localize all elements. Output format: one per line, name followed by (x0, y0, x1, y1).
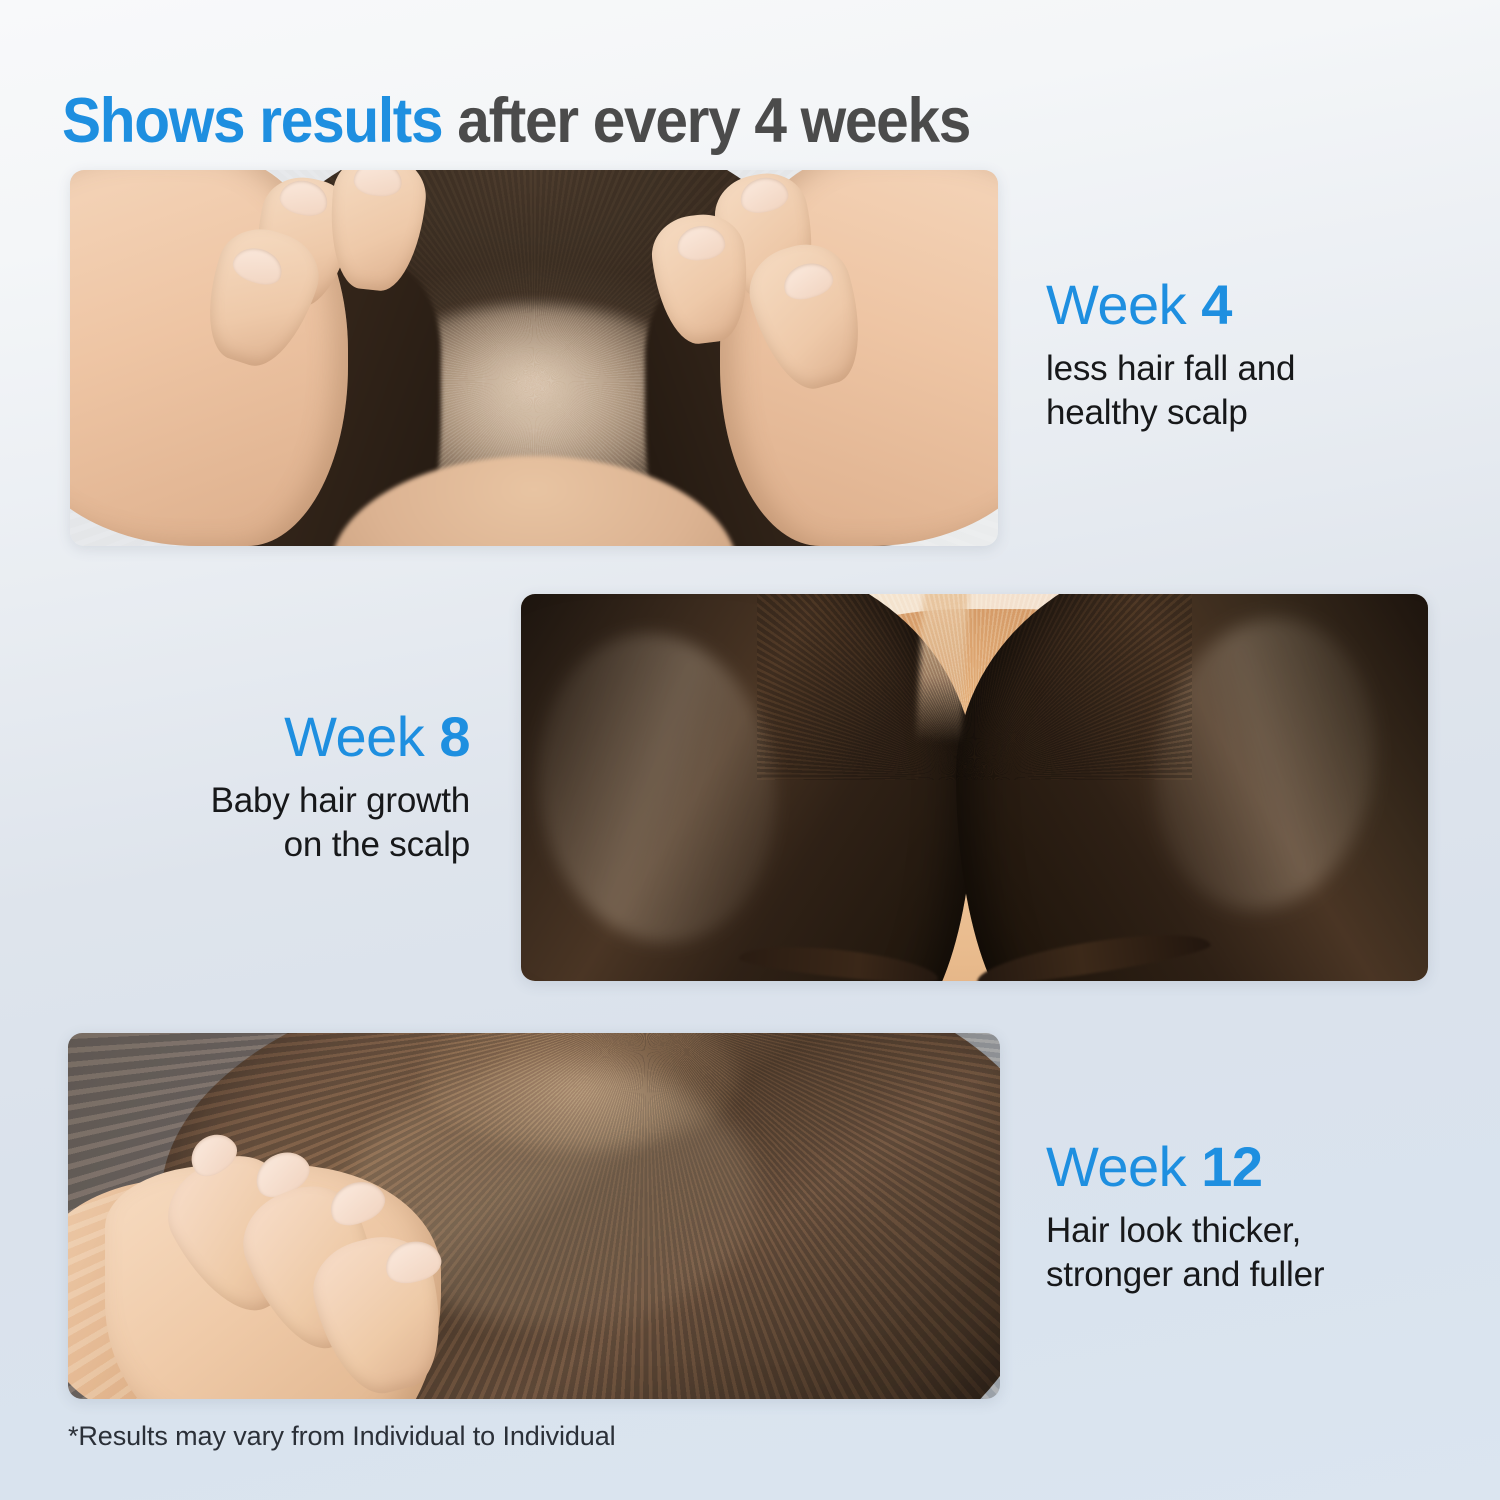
caption-week4: Week 4 less hair fall and healthy scalp (1046, 276, 1295, 435)
page-title: Shows results after every 4 weeks (62, 90, 970, 153)
page-title-rest: after every 4 weeks (442, 86, 970, 156)
disclaimer-footnote: *Results may vary from Individual to Ind… (68, 1421, 616, 1452)
caption-week12: Week 12 Hair look thicker, stronger and … (1046, 1138, 1324, 1297)
caption-week4-description: less hair fall and healthy scalp (1046, 347, 1295, 435)
caption-week4-week-number: 4 (1201, 273, 1232, 336)
caption-week4-week-label: Week (1046, 273, 1186, 336)
caption-week8-week-label: Week (284, 705, 424, 768)
page-title-highlight: Shows results (62, 86, 442, 156)
caption-week8-description: Baby hair growth on the scalp (120, 779, 470, 867)
caption-week8-week-number: 8 (439, 705, 470, 768)
caption-week12-description: Hair look thicker, stronger and fuller (1046, 1209, 1324, 1297)
caption-week8: Week 8 Baby hair growth on the scalp (120, 708, 470, 867)
results-timeline-poster: Shows results after every 4 weeks Week 4… (0, 0, 1500, 1500)
photo-week12 (68, 1033, 1000, 1399)
photo-week4 (70, 170, 998, 546)
caption-week12-week-number: 12 (1201, 1135, 1262, 1198)
photo-week8 (521, 594, 1428, 981)
caption-week4-heading: Week 4 (1046, 276, 1295, 335)
photo-week8-baby-hairs (757, 594, 1192, 780)
caption-week12-heading: Week 12 (1046, 1138, 1324, 1197)
caption-week8-heading: Week 8 (120, 708, 470, 767)
caption-week12-week-label: Week (1046, 1135, 1186, 1198)
